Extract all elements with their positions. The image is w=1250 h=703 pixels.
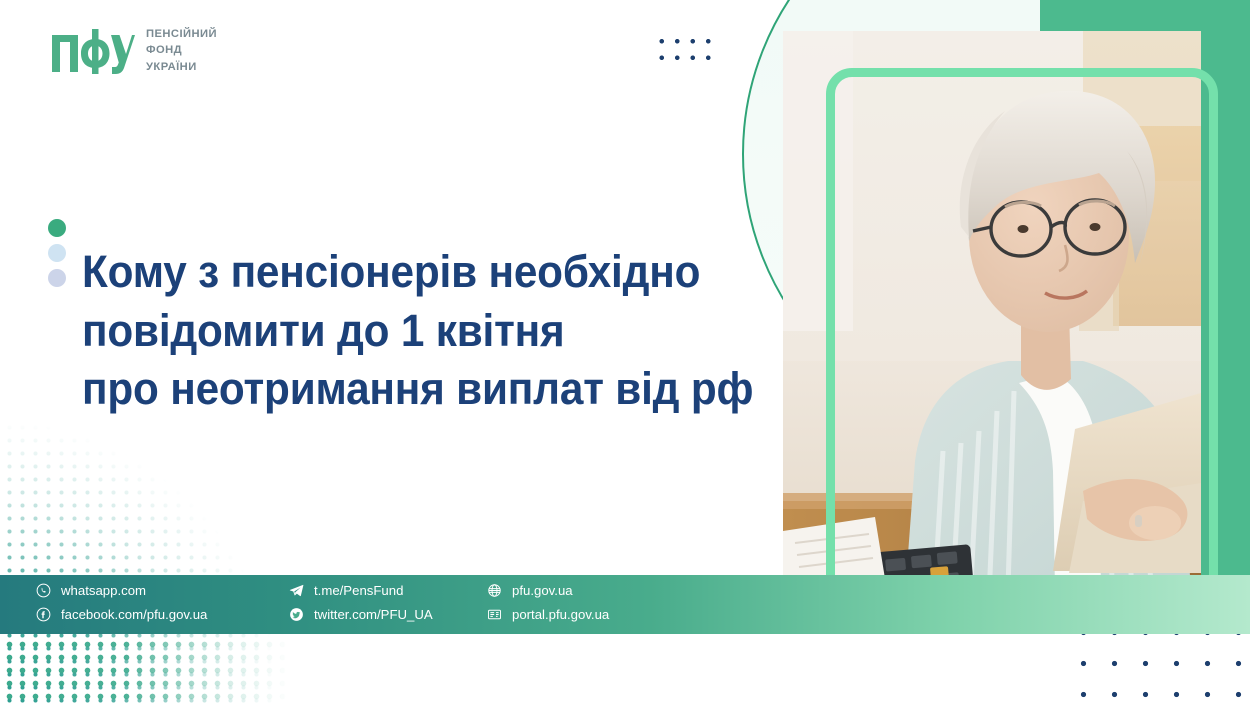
logo-line-3: УКРАЇНИ — [146, 60, 217, 74]
bullet-dots — [48, 213, 66, 449]
telegram-icon — [289, 583, 304, 598]
pfu-logo-icon — [50, 26, 135, 74]
footer-link-facebook[interactable]: facebook.com/pfu.gov.ua — [36, 607, 289, 622]
footer-links: whatsapp.com facebook.com/pfu.gov.ua — [36, 583, 687, 622]
headline-block: Кому з пенсіонерів необхідно повідомити … — [48, 213, 796, 449]
facebook-icon — [36, 607, 51, 622]
whatsapp-icon — [36, 583, 51, 598]
bullet-dot-blue — [48, 244, 66, 262]
footer-link-label: pfu.gov.ua — [512, 584, 573, 597]
footer-link-label: facebook.com/pfu.gov.ua — [61, 608, 207, 621]
elderly-woman-using-laptop-photo — [783, 31, 1201, 621]
globe-icon — [487, 583, 502, 598]
footer-link-label: portal.pfu.gov.ua — [512, 608, 609, 621]
logo-line-2: ФОНД — [146, 43, 217, 57]
portal-icon — [487, 607, 502, 622]
footer-link-label: whatsapp.com — [61, 584, 146, 597]
halftone-dots-bottom-left-strip — [0, 625, 290, 703]
footer-link-telegram[interactable]: t.me/PensFund — [289, 583, 487, 598]
page-title: Кому з пенсіонерів необхідно повідомити … — [82, 243, 753, 419]
footer-column-2: t.me/PensFund twitter.com/PFU_UA — [289, 583, 487, 622]
footer-link-portal[interactable]: portal.pfu.gov.ua — [487, 607, 687, 622]
bullet-dot-green — [48, 219, 66, 237]
pfu-logo-wordmark: ПЕНСІЙНИЙ ФОНД УКРАЇНИ — [146, 26, 217, 74]
footer-link-twitter[interactable]: twitter.com/PFU_UA — [289, 607, 487, 622]
bullet-dot-lavender — [48, 269, 66, 287]
logo-line-1: ПЕНСІЙНИЙ — [146, 27, 217, 41]
pfu-announcement-poster: ПЕНСІЙНИЙ ФОНД УКРАЇНИ Кому з пенсіонері… — [0, 0, 1250, 703]
dot-grid-top — [654, 33, 716, 67]
footer-link-whatsapp[interactable]: whatsapp.com — [36, 583, 289, 598]
footer-link-label: t.me/PensFund — [314, 584, 403, 597]
footer-link-website[interactable]: pfu.gov.ua — [487, 583, 687, 598]
footer-column-3: pfu.gov.ua portal.pfu.gov.ua — [487, 583, 687, 622]
pfu-logo: ПЕНСІЙНИЙ ФОНД УКРАЇНИ — [50, 26, 217, 74]
footer-column-1: whatsapp.com facebook.com/pfu.gov.ua — [36, 583, 289, 622]
footer-link-label: twitter.com/PFU_UA — [314, 608, 433, 621]
twitter-icon — [289, 607, 304, 622]
